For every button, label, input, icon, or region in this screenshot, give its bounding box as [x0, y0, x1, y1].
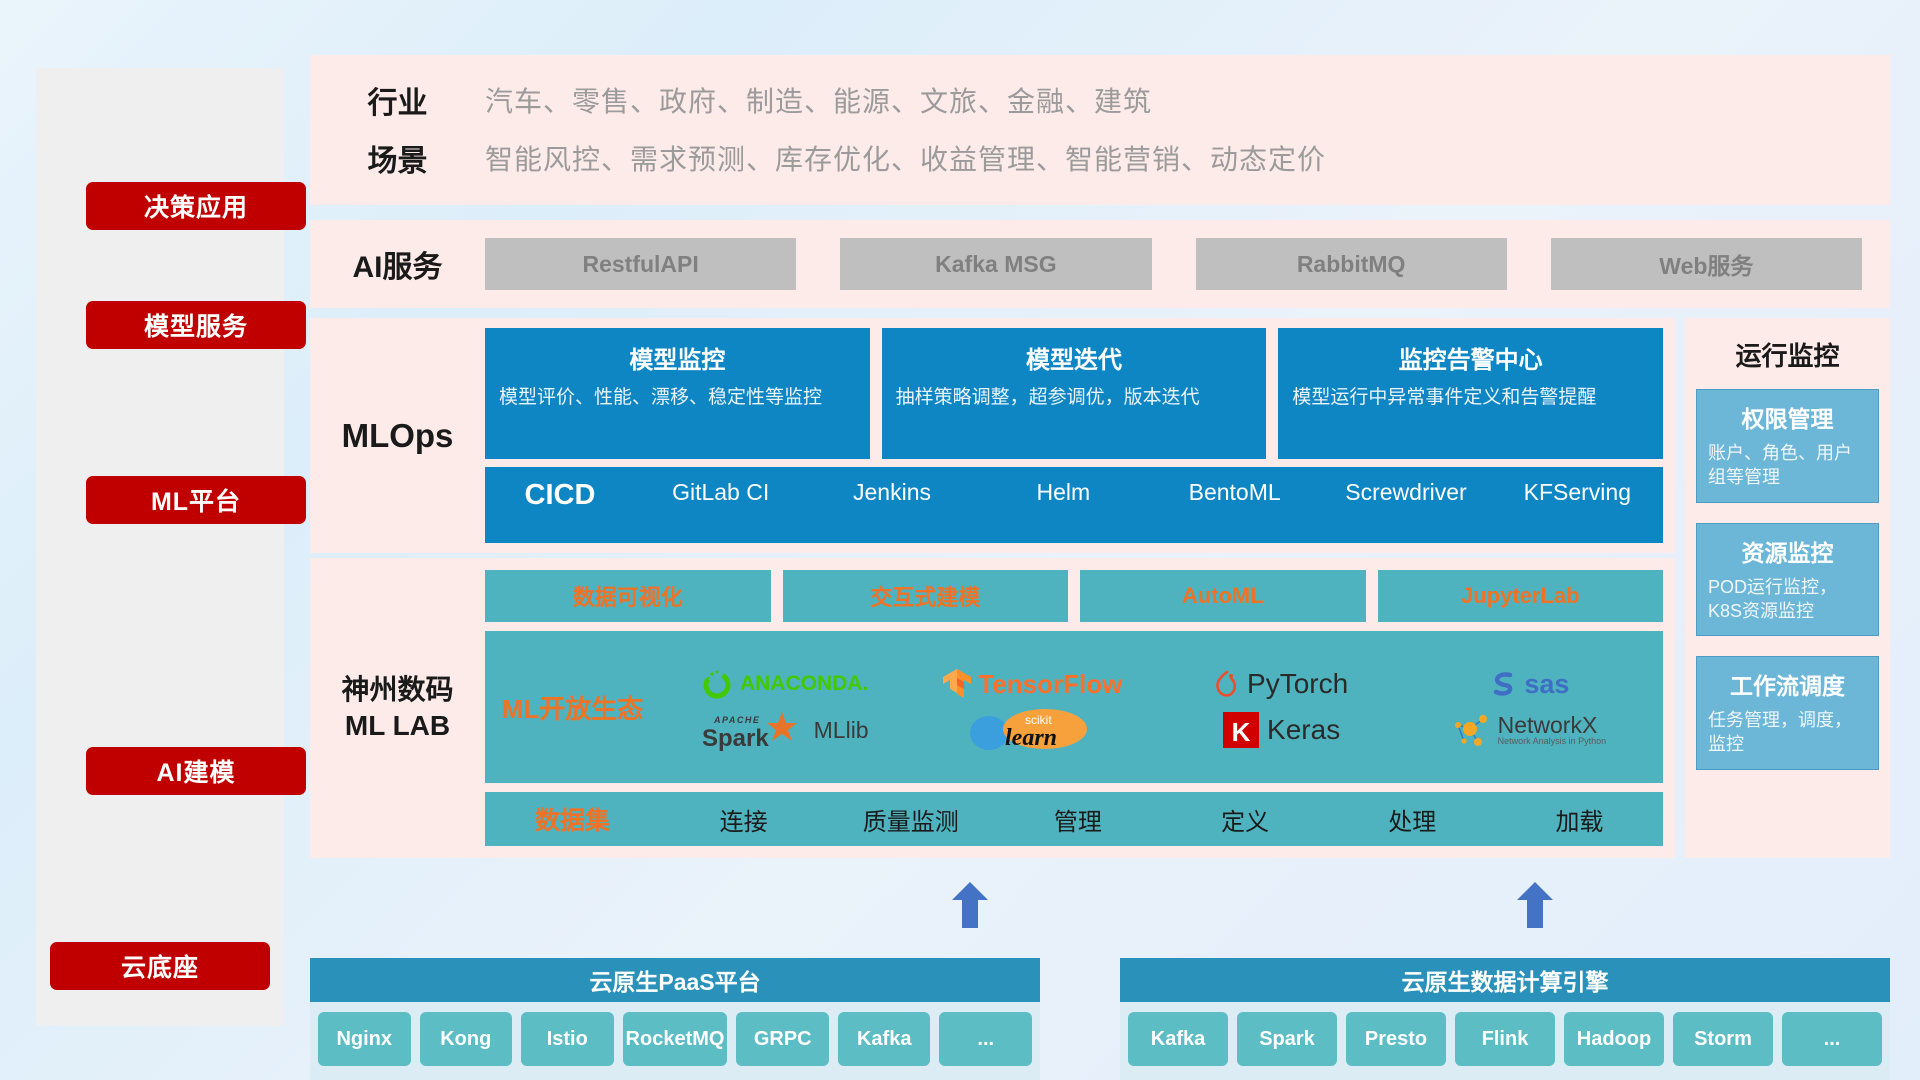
scenario-value: 智能风控、需求预测、库存优化、收益管理、智能营销、动态定价 [485, 138, 1326, 178]
data-engine-chip-hadoop[interactable]: Hadoop [1564, 1012, 1664, 1066]
scenario-label: 场景 [310, 136, 485, 180]
card-title: 监控告警中心 [1292, 340, 1649, 375]
up-arrow-icon [1515, 882, 1555, 928]
cicd-tool-gitlab-ci[interactable]: GitLab CI [635, 479, 806, 505]
paas-platform-title: 云原生PaaS平台 [310, 958, 1040, 1002]
data-engine-title: 云原生数据计算引擎 [1120, 958, 1890, 1002]
data-engine-chip-more[interactable]: ... [1782, 1012, 1882, 1066]
dataset-item-loading[interactable]: 加载 [1496, 802, 1663, 837]
mlops-card-alert-center[interactable]: 监控告警中心 模型运行中异常事件定义和告警提醒 [1278, 328, 1663, 459]
rail-tag-decision-app[interactable]: 决策应用 [86, 182, 306, 230]
paas-platform-group: 云原生PaaS平台 Nginx Kong Istio RocketMQ GRPC… [310, 958, 1040, 1080]
main-stack: 行业 汽车、零售、政府、制造、能源、文旅、金融、建筑 场景 智能风控、需求预测、… [310, 0, 1890, 1080]
anaconda-wordmark: ANACONDA. [740, 672, 868, 696]
keras-icon: K [1221, 710, 1261, 750]
ai-service-chip-rabbitmq[interactable]: RabbitMQ [1196, 238, 1507, 290]
card-desc: 账户、角色、用户组等管理 [1708, 441, 1867, 490]
tensorflow-icon [942, 667, 972, 701]
industry-scenario-band: 行业 汽车、零售、政府、制造、能源、文旅、金融、建筑 场景 智能风控、需求预测、… [310, 55, 1890, 205]
modeling-tool-data-visualization[interactable]: 数据可视化 [485, 570, 771, 622]
cicd-tool-kfserving[interactable]: KFServing [1492, 479, 1663, 505]
pytorch-logo: PyTorch [1213, 668, 1348, 700]
mlops-label: MLOps [310, 318, 485, 553]
svg-text:learn: learn [1005, 725, 1057, 751]
mlops-band: MLOps 模型监控 模型评价、性能、漂移、稳定性等监控 模型迭代 抽样策略调整… [310, 318, 1675, 553]
rail-tag-label: ML平台 [151, 482, 241, 518]
industry-label: 行业 [310, 78, 485, 122]
mllib-wordmark: MLlib [814, 717, 869, 744]
data-engine-chip-flink[interactable]: Flink [1455, 1012, 1555, 1066]
monitor-card-permission[interactable]: 权限管理 账户、角色、用户组等管理 [1696, 389, 1879, 503]
rail-tag-model-service[interactable]: 模型服务 [86, 301, 306, 349]
monitor-card-workflow[interactable]: 工作流调度 任务管理，调度，监控 [1696, 656, 1879, 770]
architecture-diagram: 决策应用 模型服务 ML平台 AI建模 云底座 行业 汽车、零售、政府、制造、能… [0, 0, 1920, 1080]
sas-logo: sas [1488, 669, 1569, 700]
networkx-tagline: Network Analysis in Python [1498, 737, 1607, 746]
cicd-label: CICD [485, 479, 635, 512]
ai-service-chip-kafka-msg[interactable]: Kafka MSG [840, 238, 1151, 290]
ml-lab-label: 神州数码 ML LAB [310, 558, 485, 858]
card-title: 工作流调度 [1708, 667, 1867, 701]
cicd-tool-jenkins[interactable]: Jenkins [806, 479, 977, 505]
scenario-row: 场景 智能风控、需求预测、库存优化、收益管理、智能营销、动态定价 [310, 129, 1890, 187]
networkx-logo: NetworkX Network Analysis in Python [1452, 711, 1607, 749]
rail-tag-label: 决策应用 [144, 188, 248, 224]
paas-chip-list: Nginx Kong Istio RocketMQ GRPC Kafka ... [310, 1002, 1040, 1080]
rail-tag-cloud-base[interactable]: 云底座 [50, 942, 270, 990]
mlops-card-model-iteration[interactable]: 模型迭代 抽样策略调整，超参调优，版本迭代 [882, 328, 1267, 459]
cicd-row: CICD GitLab CI Jenkins Helm BentoML Scre… [485, 467, 1663, 543]
ai-modeling-band: 神州数码 ML LAB 数据可视化 交互式建模 AutoML JupyterLa… [310, 558, 1675, 858]
modeling-tool-automl[interactable]: AutoML [1080, 570, 1366, 622]
ml-ecosystem-panel: ML开放生态 ANACONDA. [485, 631, 1663, 783]
card-desc: POD运行监控，K8S资源监控 [1708, 575, 1867, 624]
card-desc: 模型评价、性能、漂移、稳定性等监控 [499, 385, 856, 411]
spark-icon: APACHE Spark [700, 708, 808, 752]
anaconda-icon [700, 667, 734, 701]
cicd-tool-helm[interactable]: Helm [978, 479, 1149, 505]
card-title: 模型迭代 [896, 340, 1253, 375]
paas-chip-rocketmq[interactable]: RocketMQ [623, 1012, 728, 1066]
scikit-learn-icon: scikit learn [967, 707, 1097, 753]
runtime-monitor-panel: 运行监控 权限管理 账户、角色、用户组等管理 资源监控 POD运行监控，K8S资… [1685, 318, 1890, 858]
tensorflow-logo: TensorFlow [942, 667, 1122, 701]
paas-chip-istio[interactable]: Istio [521, 1012, 614, 1066]
card-title: 权限管理 [1708, 400, 1867, 434]
pytorch-icon [1213, 668, 1241, 700]
data-engine-chip-kafka[interactable]: Kafka [1128, 1012, 1228, 1066]
dataset-item-management[interactable]: 管理 [994, 802, 1161, 837]
scikit-learn-logo: scikit learn [967, 707, 1097, 753]
cicd-tool-screwdriver[interactable]: Screwdriver [1320, 479, 1491, 505]
dataset-item-list: 连接 质量监测 管理 定义 处理 加载 [660, 802, 1663, 837]
arrow-up-data-engine [1515, 882, 1555, 928]
ai-service-chip-web-service[interactable]: Web服务 [1551, 238, 1862, 290]
data-engine-group: 云原生数据计算引擎 Kafka Spark Presto Flink Hadoo… [1120, 958, 1890, 1080]
keras-wordmark: Keras [1267, 714, 1340, 746]
ai-service-chip-list: RestfulAPI Kafka MSG RabbitMQ Web服务 [485, 238, 1890, 290]
paas-chip-more[interactable]: ... [939, 1012, 1032, 1066]
ml-lab-label-line2: ML LAB [345, 708, 450, 744]
paas-chip-kafka[interactable]: Kafka [838, 1012, 931, 1066]
ml-ecosystem-label: ML开放生态 [485, 689, 660, 726]
ai-modeling-content: 数据可视化 交互式建模 AutoML JupyterLab ML开放生态 [485, 558, 1675, 858]
ml-ecosystem-logo-grid: ANACONDA. TensorFlow [660, 661, 1663, 753]
data-engine-chip-spark[interactable]: Spark [1237, 1012, 1337, 1066]
card-desc: 任务管理，调度，监控 [1708, 708, 1867, 757]
dataset-item-processing[interactable]: 处理 [1329, 802, 1496, 837]
industry-row: 行业 汽车、零售、政府、制造、能源、文旅、金融、建筑 [310, 71, 1890, 129]
ai-service-label: AI服务 [310, 242, 485, 286]
mlops-content: 模型监控 模型评价、性能、漂移、稳定性等监控 模型迭代 抽样策略调整，超参调优，… [485, 318, 1675, 553]
rail-tag-ai-modeling[interactable]: AI建模 [86, 747, 306, 795]
card-title: 模型监控 [499, 340, 856, 375]
card-desc: 模型运行中异常事件定义和告警提醒 [1292, 385, 1649, 411]
runtime-monitor-title: 运行监控 [1696, 336, 1879, 373]
ai-service-band: AI服务 RestfulAPI Kafka MSG RabbitMQ Web服务 [310, 220, 1890, 308]
modeling-tool-jupyterlab[interactable]: JupyterLab [1378, 570, 1664, 622]
sas-wordmark: sas [1524, 669, 1569, 700]
card-desc: 抽样策略调整，超参调优，版本迭代 [896, 385, 1253, 411]
modeling-tool-list: 数据可视化 交互式建模 AutoML JupyterLab [485, 570, 1663, 622]
rail-tag-label: AI建模 [156, 753, 235, 789]
networkx-wordmark: NetworkX [1498, 714, 1607, 737]
rail-tag-label: 模型服务 [144, 307, 248, 343]
paas-chip-kong[interactable]: Kong [420, 1012, 513, 1066]
data-engine-chip-storm[interactable]: Storm [1673, 1012, 1773, 1066]
modeling-tool-interactive-modeling[interactable]: 交互式建模 [783, 570, 1069, 622]
ai-service-chip-restfulapi[interactable]: RestfulAPI [485, 238, 796, 290]
cicd-tool-list: GitLab CI Jenkins Helm BentoML Screwdriv… [635, 479, 1663, 505]
monitor-card-resource[interactable]: 资源监控 POD运行监控，K8S资源监控 [1696, 523, 1879, 637]
paas-chip-nginx[interactable]: Nginx [318, 1012, 411, 1066]
mlops-card-model-monitoring[interactable]: 模型监控 模型评价、性能、漂移、稳定性等监控 [485, 328, 870, 459]
dataset-item-connect[interactable]: 连接 [660, 802, 827, 837]
data-engine-chip-list: Kafka Spark Presto Flink Hadoop Storm ..… [1120, 1002, 1890, 1080]
anaconda-logo: ANACONDA. [700, 667, 868, 701]
dataset-label: 数据集 [485, 801, 660, 837]
tensorflow-wordmark: TensorFlow [978, 669, 1122, 700]
dataset-row: 数据集 连接 质量监测 管理 定义 处理 加载 [485, 792, 1663, 846]
data-engine-chip-presto[interactable]: Presto [1346, 1012, 1446, 1066]
networkx-icon [1452, 711, 1492, 749]
dataset-item-quality-monitoring[interactable]: 质量监测 [827, 802, 994, 837]
card-title: 资源监控 [1708, 534, 1867, 568]
arrow-up-paas [950, 882, 990, 928]
mlops-card-list: 模型监控 模型评价、性能、漂移、稳定性等监控 模型迭代 抽样策略调整，超参调优，… [485, 328, 1663, 459]
cicd-tool-bentoml[interactable]: BentoML [1149, 479, 1320, 505]
keras-logo: K Keras [1221, 710, 1340, 750]
industry-value: 汽车、零售、政府、制造、能源、文旅、金融、建筑 [485, 80, 1152, 120]
dataset-item-definition[interactable]: 定义 [1162, 802, 1329, 837]
up-arrow-icon [950, 882, 990, 928]
rail-tag-ml-platform[interactable]: ML平台 [86, 476, 306, 524]
svg-text:Spark: Spark [702, 725, 769, 752]
layer-rail: 决策应用 模型服务 ML平台 AI建模 [36, 68, 284, 1026]
svg-text:K: K [1232, 717, 1251, 747]
ml-lab-label-line1: 神州数码 [341, 672, 453, 708]
spark-mllib-logo: APACHE Spark MLlib [700, 708, 869, 752]
pytorch-wordmark: PyTorch [1247, 668, 1348, 700]
paas-chip-grpc[interactable]: GRPC [736, 1012, 829, 1066]
svg-text:APACHE: APACHE [713, 715, 760, 725]
rail-tag-label: 云底座 [121, 948, 199, 984]
sas-icon [1488, 669, 1518, 699]
